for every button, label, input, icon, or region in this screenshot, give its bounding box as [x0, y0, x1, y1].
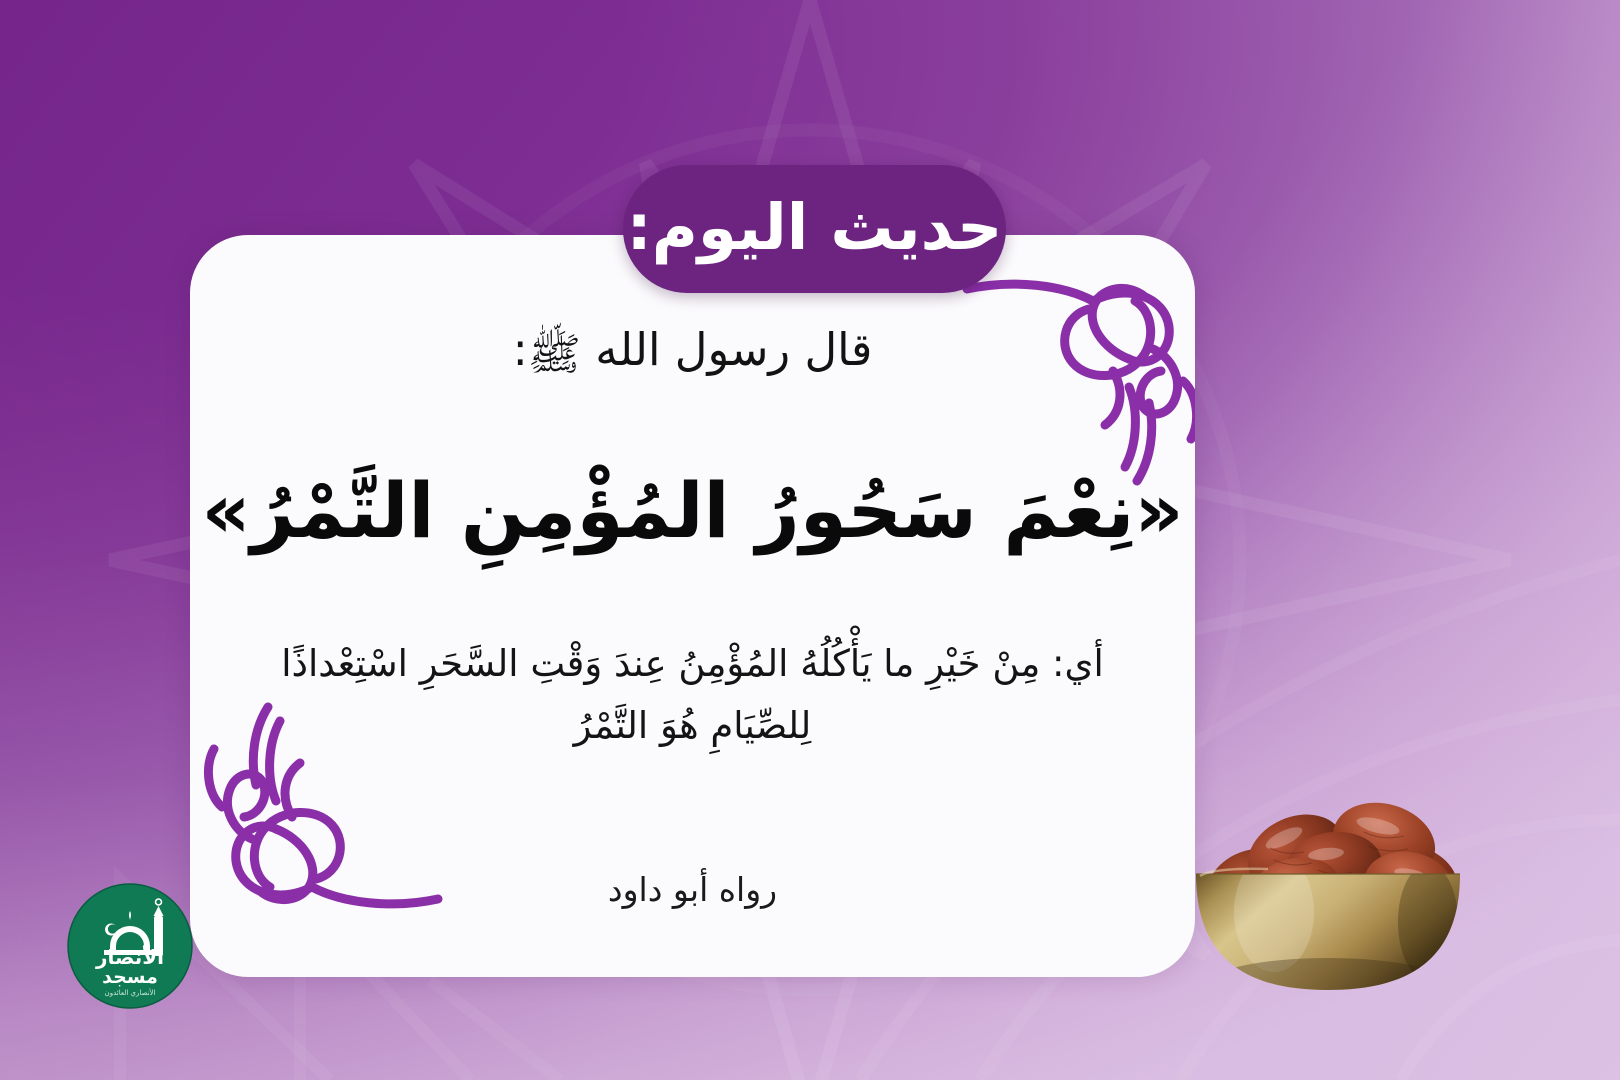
hadith-main-text: «نِعْمَ سَحُورُ المُؤْمِنِ التَّمْرُ» [190, 460, 1195, 563]
intro-suffix-text: : [513, 323, 528, 376]
title-badge-label: حديث اليوم: [627, 196, 1003, 259]
logo-green-disc: الأنصار مسجد الأنصاري العائدون [68, 884, 192, 1008]
hadith-attribution: رواه أبو داود [190, 870, 1195, 909]
hadith-explanation: أي: مِنْ خَيْرِ ما يَأْكُلُهُ المُؤْمِنُ… [262, 633, 1123, 757]
logo-arabic-text: الأنصار مسجد الأنصاري العائدون [95, 944, 164, 997]
intro-prefix-text: قال رسول الله [595, 323, 872, 376]
logo-arabic-tagline: الأنصاري العائدون [105, 988, 156, 997]
hadith-card: قال رسول الله ﷺ: «نِعْمَ سَحُورُ المُؤْم… [190, 235, 1195, 977]
title-badge: حديث اليوم: [623, 165, 1006, 293]
logo-arabic-primary: مسجد [102, 966, 158, 988]
bowl-of-dates-image [1178, 762, 1478, 990]
salawat-symbol-icon: ﷺ [528, 327, 581, 391]
hadith-intro-line: قال رسول الله ﷺ: [190, 323, 1195, 389]
hadith-poster: قال رسول الله ﷺ: «نِعْمَ سَحُورُ المُؤْم… [0, 0, 1620, 1080]
explanation-line-2: لِلصِّيَامِ هُوَ التَّمْرُ [262, 695, 1123, 757]
explanation-line-1: أي: مِنْ خَيْرِ ما يَأْكُلُهُ المُؤْمِنُ… [262, 633, 1123, 695]
logo-graphic: الأنصار مسجد الأنصاري العائدون [18, 838, 196, 1038]
masjid-al-ansar-logo: الأنصار مسجد الأنصاري العائدون [18, 838, 196, 1038]
bowl-of-dates-illustration [1178, 762, 1478, 990]
